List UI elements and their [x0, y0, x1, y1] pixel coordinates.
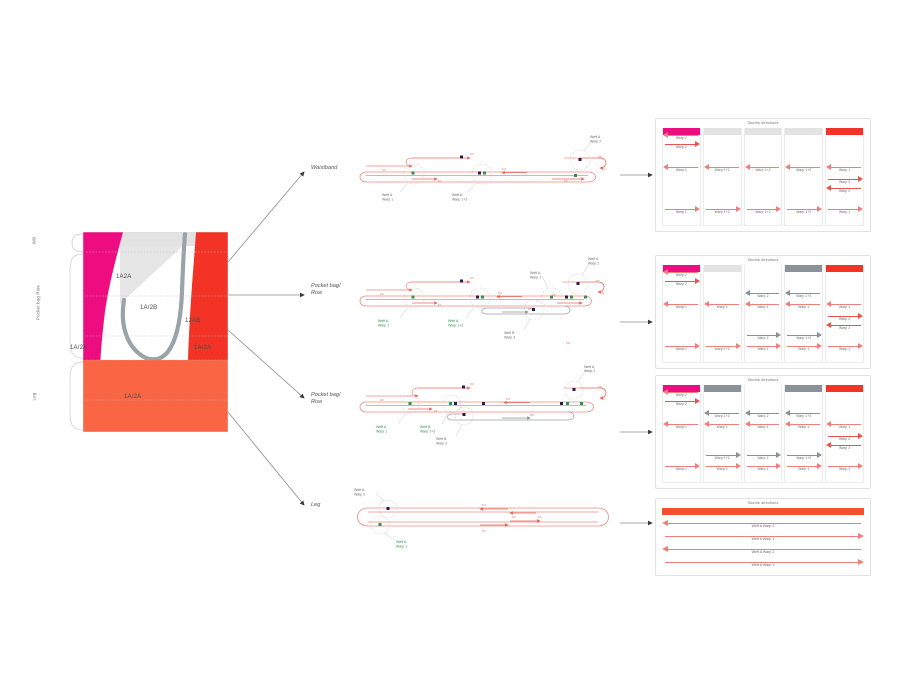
- svg-text:Warp 1: Warp 1: [376, 430, 387, 434]
- shuttle-row: Warp 1: [663, 343, 700, 352]
- shuttle-row-label: Warp 2: [826, 437, 863, 441]
- svg-text:K6: K6: [552, 293, 556, 297]
- svg-text:K7: K7: [596, 279, 600, 283]
- shuttle-row-label: Warp 2: [663, 145, 700, 149]
- shuttle-row-label: Warp 1+2: [785, 414, 822, 418]
- shuttle-row: Warp 1: [826, 421, 863, 430]
- svg-text:Warp 2: Warp 2: [504, 336, 515, 340]
- svg-text:Warp 1: Warp 1: [396, 545, 407, 549]
- shuttle-row-label: Warp 1: [785, 305, 822, 309]
- svg-text:K1: K1: [434, 409, 438, 413]
- shuttle-row: Warp 1: [663, 164, 700, 173]
- svg-text:K4: K4: [502, 167, 506, 171]
- shuttle-row: Warp 2: [826, 433, 863, 442]
- row-title-waistband: Waistband: [311, 165, 337, 172]
- svg-text:K3: K3: [470, 152, 474, 156]
- shuttle-row-label: Warp 1+2: [785, 294, 822, 298]
- shuttle-row: Weft A Warp 1: [662, 558, 864, 571]
- shuttle-row: Weft A Warp 2: [662, 545, 864, 558]
- shuttle-row-label: Warp 2: [663, 282, 700, 286]
- svg-text:Weft A: Weft A: [378, 319, 389, 323]
- shuttle-table-leg: Shuttle directions Weft A Warp 2Weft A W…: [655, 498, 871, 576]
- table-column: Warp 1Warp 2Warp 2Warp 1: [825, 385, 864, 483]
- shuttle-row: Warp 1+2: [785, 164, 822, 173]
- zone-label-1a2a-leg: 1A/2A: [124, 394, 141, 400]
- shuttle-row-label: Warp 2: [826, 180, 863, 184]
- shuttle-row-label: Warp 1+2: [785, 168, 822, 172]
- svg-text:Weft A: Weft A: [590, 135, 601, 139]
- shuttle-table-pocketbag-rise-1: Shuttle directions Warp 2Warp 2Warp 1War…: [655, 255, 871, 369]
- shuttle-row-label: Warp 2: [745, 456, 782, 460]
- svg-text:K5: K5: [564, 179, 568, 183]
- shuttle-row: Warp 2: [663, 278, 700, 287]
- svg-text:K4: K4: [482, 503, 486, 507]
- shuttle-row: Warp 2: [663, 141, 700, 150]
- side-label-leg: Leg: [32, 389, 37, 405]
- shuttle-row-label: Warp 1+2: [704, 456, 741, 460]
- shuttle-row-label: Weft A Warp 2: [662, 524, 864, 528]
- table-column: Warp 2Warp 1Warp 2Warp 1: [744, 385, 783, 483]
- svg-text:K1: K1: [438, 303, 442, 307]
- svg-text:K7: K7: [602, 397, 606, 401]
- table-columns: Weft A Warp 2Weft A Warp 1Weft A Warp 2W…: [662, 508, 864, 570]
- shuttle-row-label: Warp 2: [745, 336, 782, 340]
- table-column: Warp 1+2Warp 1+2: [703, 128, 742, 226]
- shuttle-row-label: Warp 1+2: [785, 456, 822, 460]
- shuttle-row: Warp 2: [663, 269, 700, 278]
- table-title: Shuttle directions: [656, 121, 870, 125]
- shuttle-row: Warp 1+2: [745, 164, 782, 173]
- shuttle-row-label: Warp 2: [663, 393, 700, 397]
- shuttle-row: Warp 1+2: [704, 452, 741, 461]
- table-column: Warp 2Warp 2Warp 1Warp 1: [662, 265, 701, 363]
- table-column: Warp 1Warp 1+2: [703, 265, 742, 363]
- table-title: Shuttle directions: [656, 378, 870, 382]
- shuttle-row: Warp 1+2: [704, 206, 741, 215]
- shuttle-row: Warp 1: [704, 301, 741, 310]
- shuttle-row-label: Warp 1: [745, 305, 782, 309]
- shuttle-row: Warp 1: [704, 421, 741, 430]
- svg-text:Weft A: Weft A: [376, 425, 387, 429]
- shuttle-row-label: Warp 1: [826, 347, 863, 351]
- shuttle-row-label: Weft A Warp 1: [662, 537, 864, 541]
- shuttle-row: Warp 1: [785, 463, 822, 472]
- shuttle-row: Warp 2: [663, 132, 700, 141]
- side-label-wb: WB: [32, 231, 37, 251]
- svg-text:Weft A: Weft A: [452, 193, 463, 197]
- shuttle-row: Warp 1+2: [785, 452, 822, 461]
- table-columns: Warp 2Warp 2Warp 1Warp 1Warp 1Warp 1+2Wa…: [662, 265, 864, 363]
- shuttle-row: Warp 1+2: [704, 410, 741, 419]
- shuttle-row-label: Warp 1: [663, 347, 700, 351]
- shuttle-row: Warp 1: [785, 301, 822, 310]
- svg-text:Warp 1: Warp 1: [530, 276, 541, 280]
- zone-label-12ab: 12AB: [185, 318, 200, 324]
- shuttle-row-label: Warp 1+2: [785, 210, 822, 214]
- shuttle-row: Warp 1+2: [785, 410, 822, 419]
- shuttle-row: Warp 2: [745, 332, 782, 341]
- shuttle-row: Warp 1: [663, 206, 700, 215]
- zone-label-1a2a-left: 1A/2A: [70, 345, 87, 351]
- table-column: Warp 1+2Warp 1+2: [744, 128, 783, 226]
- shuttle-row-label: Warp 1: [826, 467, 863, 471]
- table-column: Weft A Warp 2Weft A Warp 1Weft A Warp 2W…: [662, 508, 864, 570]
- side-label-pocketbag-rise: Pocket bag Rise: [36, 281, 41, 325]
- shuttle-row: Warp 1+2: [785, 206, 822, 215]
- column-header-swatch: [826, 385, 863, 392]
- shuttle-row-label: Warp 1: [663, 467, 700, 471]
- diagram-leg-threading: Weft AWarp 2 Weft AWarp 1 K4 K3 K2 K1: [350, 488, 622, 558]
- svg-text:Weft B: Weft B: [504, 331, 515, 335]
- shuttle-row: Warp 1+2: [745, 206, 782, 215]
- svg-text:Weft B: Weft B: [420, 425, 431, 429]
- svg-text:K2: K2: [380, 398, 384, 402]
- table-title: Shuttle directions: [656, 501, 870, 505]
- shuttle-row: Warp 1+2: [704, 164, 741, 173]
- svg-text:Warp 2: Warp 2: [436, 442, 447, 446]
- column-header-swatch: [704, 385, 741, 392]
- shuttle-row-label: Weft A Warp 1: [662, 563, 864, 567]
- shuttle-table-waistband: Shuttle directions Warp 2Warp 2Warp 1War…: [655, 118, 871, 232]
- column-header-swatch: [704, 128, 741, 135]
- shuttle-row: Warp 1: [745, 301, 782, 310]
- row-title-pocketbag-2: Pocket bag/ Rise: [311, 392, 341, 406]
- zone-label-1a2a-top: 1A2A: [116, 274, 131, 280]
- svg-text:K2: K2: [538, 515, 542, 519]
- shuttle-row: Warp 1: [826, 343, 863, 352]
- shuttle-row: Warp 2: [745, 290, 782, 299]
- shuttle-row-label: Warp 1: [704, 305, 741, 309]
- diagram-canvas: WB Pocket bag Rise Leg 1A2A 1A/2B 12AB 1…: [0, 0, 920, 690]
- table-title: Shuttle directions: [656, 258, 870, 262]
- shuttle-row-label: Warp 1: [826, 168, 863, 172]
- shuttle-row: Weft A Warp 2: [662, 519, 864, 532]
- shuttle-row-label: Warp 2: [826, 446, 863, 450]
- column-header-swatch: [745, 128, 782, 135]
- shuttle-row-label: Warp 2: [826, 317, 863, 321]
- svg-text:Warp 2: Warp 2: [354, 493, 365, 497]
- svg-text:Weft A: Weft A: [354, 488, 365, 492]
- shuttle-row-label: Warp 1: [745, 425, 782, 429]
- column-header-swatch: [826, 128, 863, 135]
- svg-text:K6: K6: [598, 155, 602, 159]
- svg-text:Warp 2: Warp 2: [590, 140, 601, 144]
- shuttle-row-label: Warp 2: [663, 273, 700, 277]
- shuttle-row-label: Warp 1: [663, 210, 700, 214]
- shuttle-row: Warp 2: [745, 410, 782, 419]
- shuttle-row: Warp 1: [745, 463, 782, 472]
- shuttle-row: Warp 2: [745, 452, 782, 461]
- svg-text:Warp 2: Warp 2: [588, 262, 599, 266]
- svg-text:Weft A: Weft A: [588, 257, 599, 261]
- row-title-pocketbag-1: Pocket bag/ Rise: [311, 283, 341, 297]
- shuttle-row-label: Warp 1: [745, 467, 782, 471]
- shuttle-row: Warp 1: [785, 421, 822, 430]
- svg-text:Weft A: Weft A: [382, 193, 393, 197]
- shuttle-row: Warp 2: [826, 442, 863, 451]
- shuttle-row-label: Warp 1+2: [704, 414, 741, 418]
- svg-text:Warp 2: Warp 2: [584, 369, 595, 373]
- table-column: Warp 2Warp 1Warp 2Warp 1: [744, 265, 783, 363]
- shuttle-row: Warp 1: [745, 421, 782, 430]
- shuttle-row-label: Warp 2: [745, 414, 782, 418]
- shuttle-row-label: Warp 1: [826, 425, 863, 429]
- diagram-pocketbag-rise-threading-1: Weft AWarp 1 Weft AWarp 1+2 Weft BWarp 2…: [352, 252, 617, 352]
- shuttle-table-pocketbag-rise-2: Shuttle directions Warp 2Warp 2Warp 1War…: [655, 375, 871, 489]
- zone-label-1a2a-right: 1A/2A: [194, 345, 211, 351]
- shuttle-row-label: Warp 1+2: [704, 168, 741, 172]
- svg-text:K1: K1: [482, 529, 486, 533]
- shuttle-row: Weft A Warp 1: [662, 532, 864, 545]
- shuttle-row-label: Warp 1: [663, 425, 700, 429]
- shuttle-row-label: Warp 1: [785, 347, 822, 351]
- shuttle-row: Warp 2: [826, 322, 863, 331]
- table-column: Warp 2Warp 2Warp 1Warp 1: [662, 385, 701, 483]
- shuttle-row: Warp 1+2: [704, 343, 741, 352]
- shuttle-row: Warp 1: [785, 343, 822, 352]
- shuttle-row-label: Warp 1: [704, 425, 741, 429]
- shuttle-row-label: Warp 1: [785, 425, 822, 429]
- shuttle-row: Warp 1: [663, 421, 700, 430]
- shuttle-row: Warp 1: [745, 343, 782, 352]
- column-header-swatch: [662, 508, 864, 515]
- shuttle-row-label: Warp 1: [663, 305, 700, 309]
- table-column: Warp 1+2Warp 1+2: [784, 128, 823, 226]
- svg-text:Warp 1: Warp 1: [378, 324, 389, 328]
- column-header-swatch: [785, 385, 822, 392]
- shuttle-row-label: Warp 1+2: [704, 210, 741, 214]
- table-column: Warp 1Warp 2Warp 2Warp 1: [825, 265, 864, 363]
- svg-text:Warp 1+2: Warp 1+2: [448, 324, 463, 328]
- column-header-swatch: [745, 265, 782, 272]
- shuttle-row-label: Weft A Warp 2: [662, 550, 864, 554]
- column-header-swatch: [785, 128, 822, 135]
- shuttle-row: Warp 2: [663, 398, 700, 407]
- column-header-swatch: [745, 385, 782, 392]
- column-header-swatch: [704, 265, 741, 272]
- svg-text:Weft A: Weft A: [530, 271, 541, 275]
- garment-panel: WB Pocket bag Rise Leg 1A2A 1A/2B 12AB 1…: [28, 232, 228, 432]
- shuttle-row-label: Warp 2: [826, 326, 863, 330]
- svg-text:K2: K2: [380, 292, 384, 296]
- svg-text:K2: K2: [382, 168, 386, 172]
- svg-text:Weft A: Weft A: [396, 540, 407, 544]
- diagram-waistband-threading: Weft AWarp 1 Weft AWarp 1+2 Weft AWarp 2…: [352, 130, 617, 225]
- table-columns: Warp 2Warp 2Warp 1Warp 1Warp 1+2Warp 1+2…: [662, 128, 864, 226]
- svg-text:K4: K4: [506, 397, 510, 401]
- shuttle-row-label: Warp 1+2: [785, 336, 822, 340]
- zone-label-1a2b: 1A/2B: [140, 305, 157, 311]
- column-header-swatch: [785, 265, 822, 272]
- table-column: Warp 1Warp 2Warp 2Warp 1: [825, 128, 864, 226]
- shuttle-row: Warp 1: [826, 164, 863, 173]
- shuttle-row: Warp 1: [663, 301, 700, 310]
- svg-text:Warp 1+2: Warp 1+2: [452, 198, 467, 202]
- shuttle-row: Warp 1: [826, 463, 863, 472]
- svg-text:K4: K4: [498, 291, 502, 295]
- svg-text:K3: K3: [512, 515, 516, 519]
- shuttle-row: Warp 2: [826, 185, 863, 194]
- svg-text:Warp 1: Warp 1: [382, 198, 393, 202]
- svg-text:K3: K3: [470, 276, 474, 280]
- table-column: Warp 1+2Warp 1Warp 1+2Warp 1: [703, 385, 742, 483]
- shuttle-row-label: Warp 1+2: [704, 347, 741, 351]
- shuttle-row-label: Warp 1+2: [745, 168, 782, 172]
- svg-text:K6: K6: [598, 385, 602, 389]
- svg-text:K8: K8: [600, 291, 604, 295]
- shuttle-row: Warp 1+2: [785, 332, 822, 341]
- shuttle-row-label: Warp 1+2: [745, 210, 782, 214]
- shuttle-row-label: Warp 1: [826, 210, 863, 214]
- table-column: Warp 1+2Warp 1Warp 1+2Warp 1: [784, 265, 823, 363]
- svg-text:Warp 1+2: Warp 1+2: [420, 430, 435, 434]
- shuttle-row: Warp 2: [826, 313, 863, 322]
- table-column: Warp 1+2Warp 1Warp 1+2Warp 1: [784, 385, 823, 483]
- shuttle-row: Warp 2: [826, 176, 863, 185]
- table-column: Warp 2Warp 2Warp 1Warp 1: [662, 128, 701, 226]
- shuttle-row-label: Warp 1: [745, 347, 782, 351]
- shuttle-row-label: Warp 2: [663, 402, 700, 406]
- shuttle-row: Warp 1: [663, 463, 700, 472]
- shuttle-row: Warp 1: [704, 463, 741, 472]
- shuttle-row-label: Warp 1: [704, 467, 741, 471]
- shuttle-row: Warp 2: [663, 389, 700, 398]
- shuttle-row-label: Warp 2: [663, 136, 700, 140]
- svg-text:K5: K5: [530, 413, 534, 417]
- svg-text:Weft A: Weft A: [448, 319, 459, 323]
- svg-text:K3: K3: [470, 382, 474, 386]
- diagram-pocketbag-rise-threading-2: Weft AWarp 1 Weft BWarp 1+2 Weft BWarp 2…: [352, 368, 617, 458]
- section-brackets: [70, 234, 83, 430]
- shuttle-row-label: Warp 1: [826, 305, 863, 309]
- svg-text:K7: K7: [602, 167, 606, 171]
- table-columns: Warp 2Warp 2Warp 1Warp 1Warp 1+2Warp 1Wa…: [662, 385, 864, 483]
- svg-text:K9: K9: [566, 341, 570, 345]
- svg-text:Weft B: Weft B: [436, 437, 447, 441]
- svg-text:K5: K5: [528, 307, 532, 311]
- shuttle-row: Warp 1: [826, 301, 863, 310]
- shuttle-row: Warp 1: [826, 206, 863, 215]
- shuttle-row: Warp 1+2: [785, 290, 822, 299]
- shuttle-row-label: Warp 2: [745, 294, 782, 298]
- shuttle-row-label: Warp 2: [826, 189, 863, 193]
- shuttle-row-label: Warp 1: [785, 467, 822, 471]
- shuttle-row-label: Warp 1: [663, 168, 700, 172]
- column-header-swatch: [826, 265, 863, 272]
- svg-text:K1: K1: [438, 179, 442, 183]
- row-title-leg: Leg: [311, 502, 320, 509]
